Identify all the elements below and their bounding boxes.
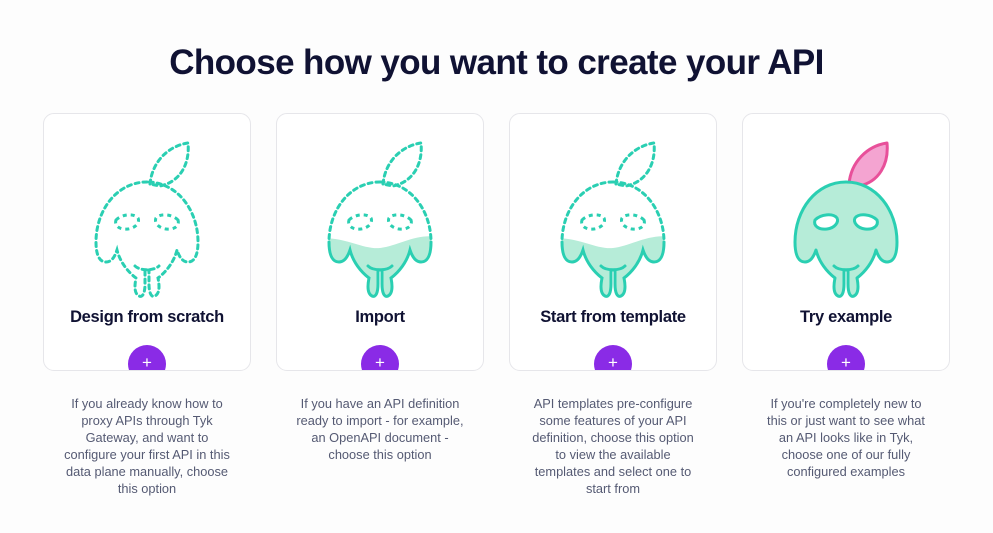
option-column-try-example: Try example + If you're completely new t… — [742, 113, 950, 497]
option-card-description: If you have an API definition ready to i… — [294, 395, 466, 463]
add-api-button-design-from-scratch[interactable]: + — [128, 345, 166, 371]
option-card-design-from-scratch[interactable]: Design from scratch + — [43, 113, 251, 371]
option-card-import[interactable]: Import + — [276, 113, 484, 371]
mascot-illustration-outline-empty — [82, 136, 212, 306]
option-card-title: Start from template — [540, 308, 686, 327]
option-card-try-example[interactable]: Try example + — [742, 113, 950, 371]
option-card-description: If you're completely new to this or just… — [760, 395, 932, 480]
plus-icon: + — [375, 354, 385, 371]
option-card-start-from-template[interactable]: Start from template + — [509, 113, 717, 371]
option-card-description: API templates pre-configure some feature… — [527, 395, 699, 497]
option-column-import: Import + If you have an API definition r… — [276, 113, 484, 497]
option-column-design-from-scratch: Design from scratch + If you already kno… — [43, 113, 251, 497]
page-title: Choose how you want to create your API — [0, 0, 993, 83]
add-api-button-start-from-template[interactable]: + — [594, 345, 632, 371]
option-card-title: Import — [355, 308, 405, 327]
plus-icon: + — [142, 354, 152, 371]
add-api-button-try-example[interactable]: + — [827, 345, 865, 371]
option-card-description: If you already know how to proxy APIs th… — [61, 395, 233, 497]
option-card-title: Try example — [800, 308, 892, 327]
plus-icon: + — [841, 354, 851, 371]
mascot-illustration-filled — [781, 136, 911, 306]
option-card-title: Design from scratch — [70, 308, 224, 327]
add-api-button-import[interactable]: + — [361, 345, 399, 371]
plus-icon: + — [608, 354, 618, 371]
option-column-start-from-template: Start from template + API templates pre-… — [509, 113, 717, 497]
mascot-illustration-partial-fill — [548, 136, 678, 306]
create-api-options-row: Design from scratch + If you already kno… — [0, 113, 993, 497]
mascot-illustration-partial-fill — [315, 136, 445, 306]
